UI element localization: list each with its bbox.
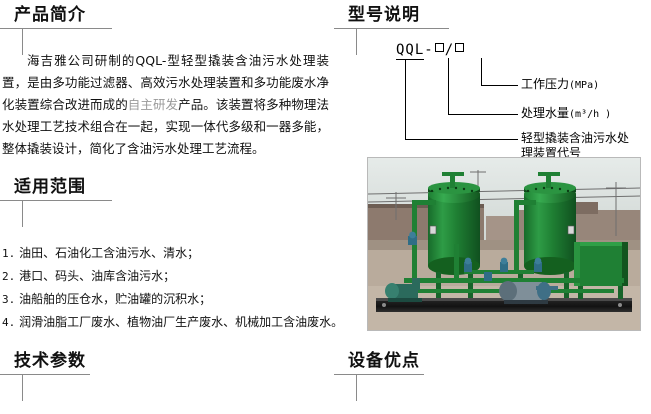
leader-line-code-horizontal [405,139,518,140]
model-code-box-capacity [435,43,444,52]
leader-line-capacity-horizontal [448,114,518,115]
list-item-text: 油船舶的压仓水，贮油罐的沉积水； [19,292,211,306]
model-code-slash: / [445,42,454,58]
list-item-text: 港口、码头、油库含油污水； [19,269,175,283]
model-code-word: QQL [396,42,424,60]
model-code-string: QQL-/ [396,42,465,58]
leader-line-pressure-vertical [481,58,482,85]
scope-list: 1. 油田、石油化工含油污水、清水； 2. 港口、码头、油库含油污水； 3. 油… [2,242,347,334]
list-item-number: 3. [2,293,15,306]
intro-paragraph: 海吉雅公司研制的QQL-型轻型撬装含油污水处理装置，是由多功能过滤器、高效污水处… [2,50,329,160]
section-heading-model: 型号说明 [334,4,449,29]
section-heading-intro: 产品简介 [0,4,112,29]
equipment-photo [367,157,641,331]
leader-line-code-vertical [405,60,406,139]
section-heading-scope: 适用范围 [0,176,112,201]
list-item: 2. 港口、码头、油库含油污水； [2,265,347,288]
leader-line-capacity-vertical [448,58,449,114]
list-item: 1. 油田、石油化工含油污水、清水； [2,242,347,265]
section-title-intro: 产品简介 [0,4,112,26]
list-item-text: 油田、石油化工含油污水、清水； [19,246,199,260]
model-label-code-line1: 轻型撬装含油污水处 [521,131,629,146]
model-label-capacity: 处理水量(m³/h ) [521,106,611,122]
leader-line-pressure-horizontal [481,85,518,86]
list-item-number: 2. [2,270,15,283]
list-item-number: 1. [2,247,15,260]
heading-tick [356,375,357,401]
heading-tick [22,201,23,227]
model-label-pressure-unit: (MPa) [569,80,599,91]
model-code-box-pressure [455,43,464,52]
section-heading-specs: 技术参数 [0,350,90,375]
intro-text-highlight: 自主研发 [128,97,178,112]
list-item-text: 润滑油脂工厂废水、植物油厂生产废水、机械加工含油废水。 [19,315,343,329]
section-title-merits: 设备优点 [334,350,424,372]
heading-tick [22,375,23,401]
section-title-model: 型号说明 [334,4,449,26]
model-label-capacity-text: 处理水量 [521,106,569,120]
list-item: 4. 润滑油脂工厂废水、植物油厂生产废水、机械加工含油废水。 [2,311,347,334]
section-title-specs: 技术参数 [0,350,90,372]
heading-rule [0,374,90,375]
section-title-scope: 适用范围 [0,176,112,198]
heading-rule [0,28,112,29]
equipment-photo-illustration [368,158,640,330]
model-code-separator: - [424,42,433,58]
model-label-pressure-text: 工作压力 [521,77,569,91]
section-heading-merits: 设备优点 [334,350,424,375]
model-label-pressure: 工作压力(MPa) [521,77,599,93]
model-label-capacity-unit: (m³/h ) [569,109,611,120]
model-number-diagram: QQL-/ 工作压力(MPa) 处理水量(m³/h ) 轻型撬装含油污水处 理装… [334,38,651,156]
list-item: 3. 油船舶的压仓水，贮油罐的沉积水； [2,288,347,311]
heading-rule [334,374,424,375]
heading-rule [0,200,112,201]
list-item-number: 4. [2,316,15,329]
heading-rule [334,28,449,29]
